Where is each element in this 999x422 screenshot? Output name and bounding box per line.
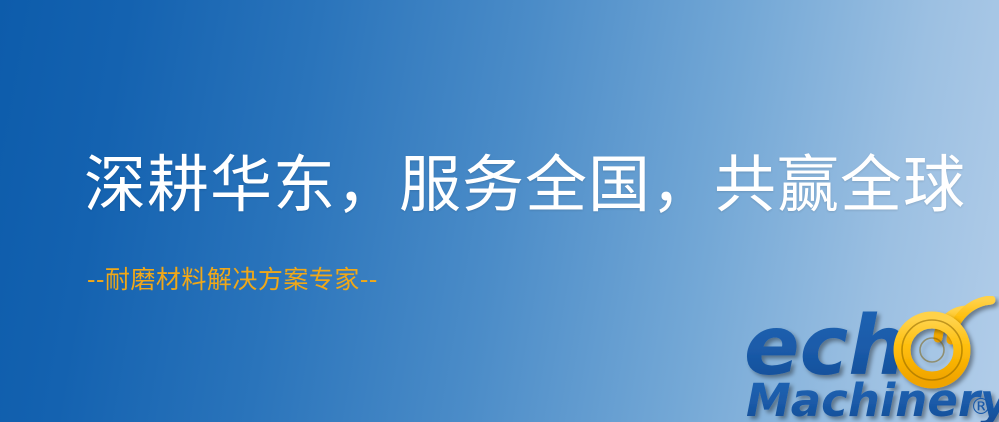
echo-machinery-logo: ech Machinery ® xyxy=(742,296,999,422)
promotional-banner: 深耕华东，服务全国，共赢全球 --耐磨材料解决方案专家-- xyxy=(0,0,999,422)
banner-headline: 深耕华东，服务全国，共赢全球 xyxy=(84,152,966,217)
banner-subtitle: --耐磨材料解决方案专家-- xyxy=(87,266,378,294)
svg-text:Machinery: Machinery xyxy=(746,374,999,422)
svg-text:®: ® xyxy=(970,395,992,420)
logo-wordmark-machinery: Machinery ® xyxy=(746,374,999,422)
logo-wordmark-o xyxy=(902,320,962,380)
